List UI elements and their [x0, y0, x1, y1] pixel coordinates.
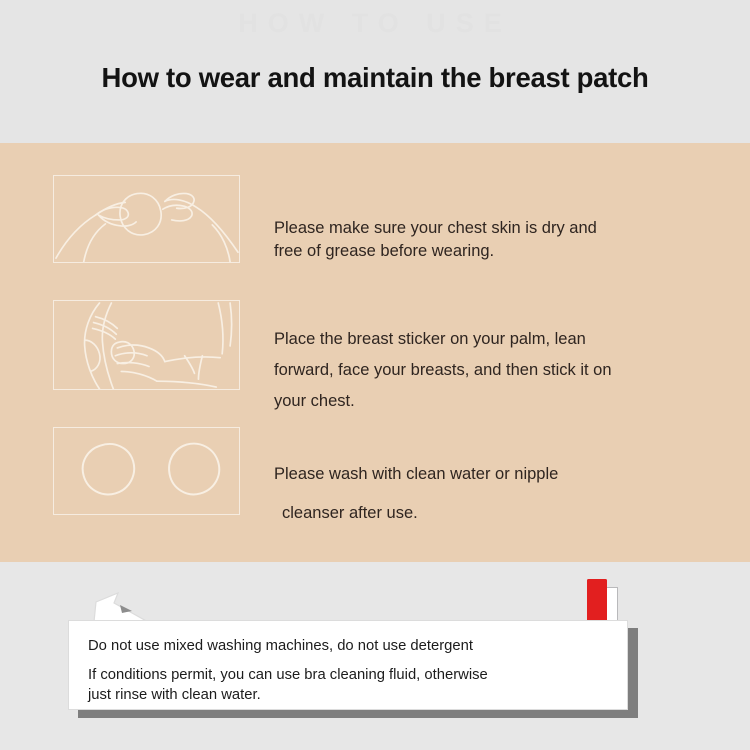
step-1-text: Please make sure your chest skin is dry … — [274, 217, 724, 263]
warning-line-1: Do not use mixed washing machines, do no… — [88, 638, 473, 654]
warning-box: Do not use mixed washing machines, do no… — [68, 620, 628, 710]
infographic-page: HOW TO USE How to wear and maintain the … — [0, 0, 750, 750]
step-3-line-1: Please wash with clean water or nipple — [274, 455, 724, 494]
warning-line-2: If conditions permit, you can use bra cl… — [88, 667, 488, 683]
watermark-text: HOW TO USE — [0, 8, 750, 39]
two-round-patches-illustration — [53, 427, 240, 515]
step-2-line-2: forward, face your breasts, and then sti… — [274, 355, 724, 386]
step-2-line-1: Place the breast sticker on your palm, l… — [274, 324, 724, 355]
step-3-line-2: cleanser after use. — [274, 494, 724, 533]
hand-applying-patch-to-chest-illustration — [53, 300, 240, 390]
page-title: How to wear and maintain the breast patc… — [0, 62, 750, 94]
step-3-text: Please wash with clean water or nipple c… — [274, 455, 724, 533]
step-1-line-2: free of grease before wearing. — [274, 240, 724, 263]
step-1-line-1: Please make sure your chest skin is dry … — [274, 217, 724, 240]
step-2-text: Place the breast sticker on your palm, l… — [274, 324, 724, 417]
header-band: HOW TO USE How to wear and maintain the … — [0, 0, 750, 143]
instruction-band: Please make sure your chest skin is dry … — [0, 143, 750, 562]
two-hands-holding-patch-illustration — [53, 175, 240, 263]
speech-bubble-tail — [92, 591, 148, 623]
step-2-line-3: your chest. — [274, 386, 724, 417]
warning-line-3: just rinse with clean water. — [88, 687, 261, 703]
